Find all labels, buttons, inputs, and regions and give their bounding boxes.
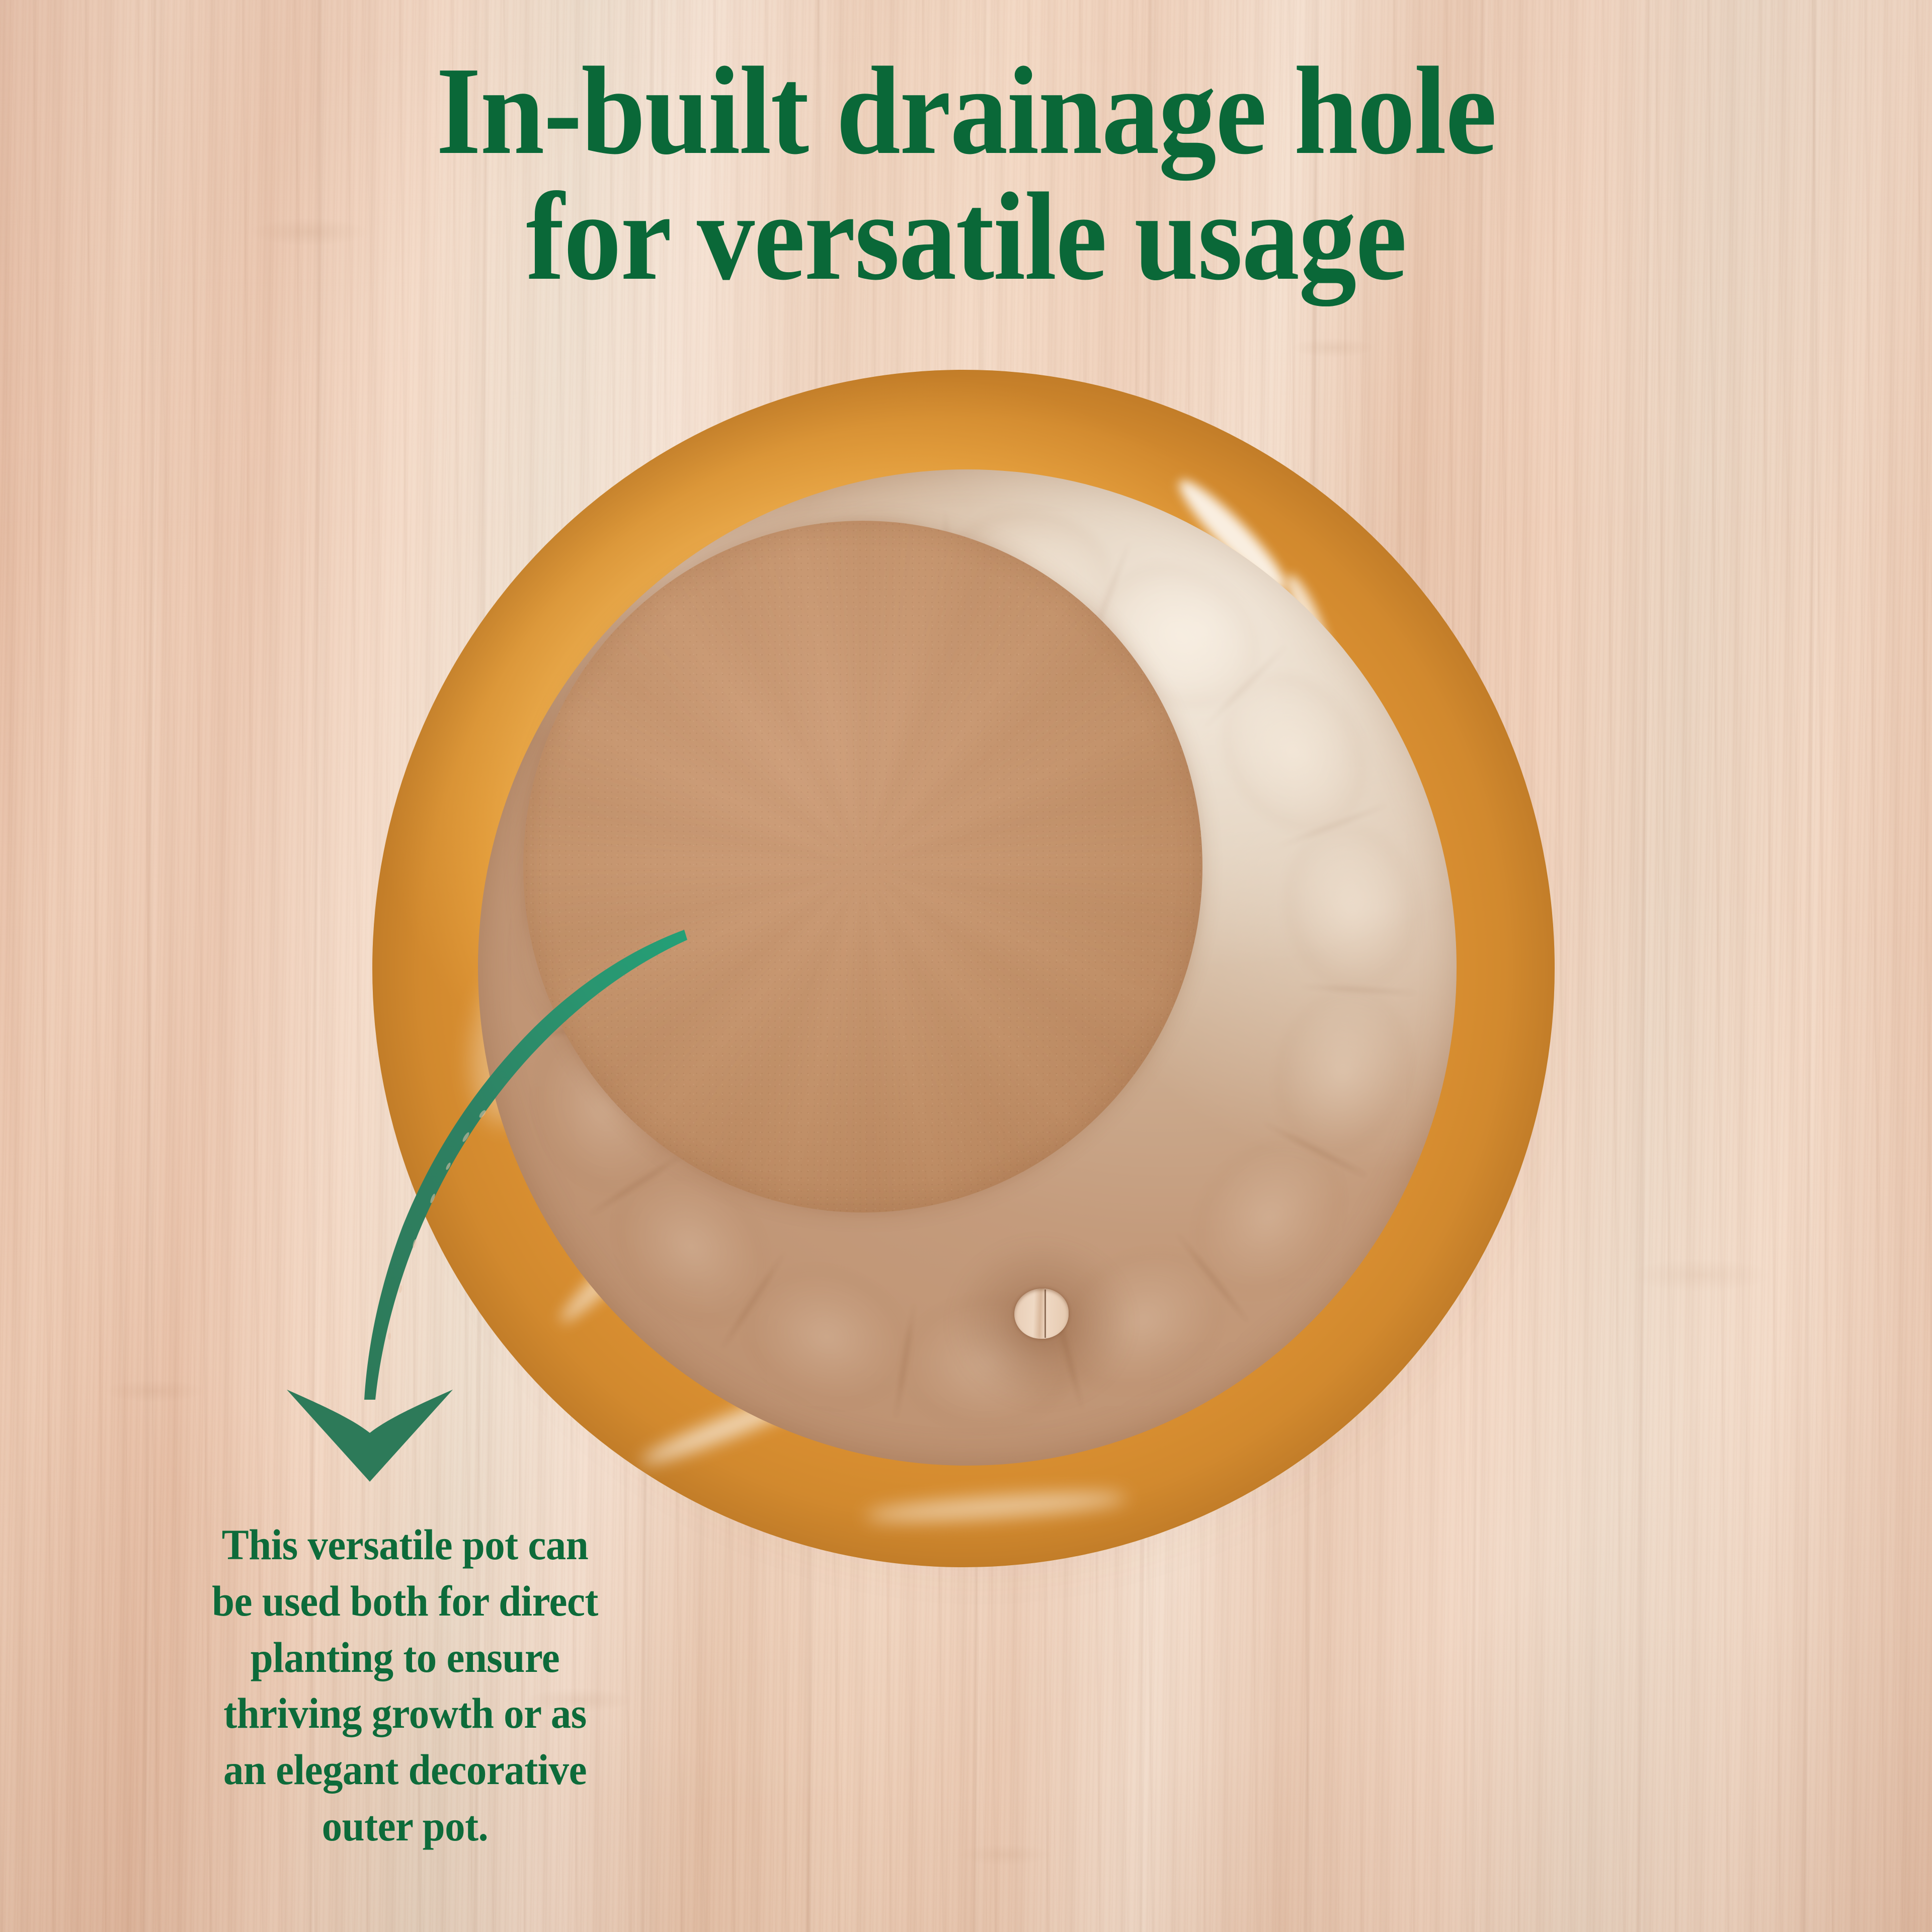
- drainage-hole: [1014, 1289, 1069, 1339]
- annotation-arrow: [282, 916, 735, 1509]
- drainage-hole-wood-seam: [1044, 1290, 1046, 1338]
- arrow-stroke-texture: [388, 1109, 487, 1340]
- page-title: In-built drainage hole for versatile usa…: [77, 48, 1855, 300]
- arrow-stroke-path: [364, 930, 687, 1400]
- product-feature-graphic: In-built drainage hole for versatile usa…: [0, 0, 1932, 1932]
- feature-caption: This versatile pot can be used both for …: [81, 1517, 729, 1855]
- arrowhead: [287, 1390, 453, 1482]
